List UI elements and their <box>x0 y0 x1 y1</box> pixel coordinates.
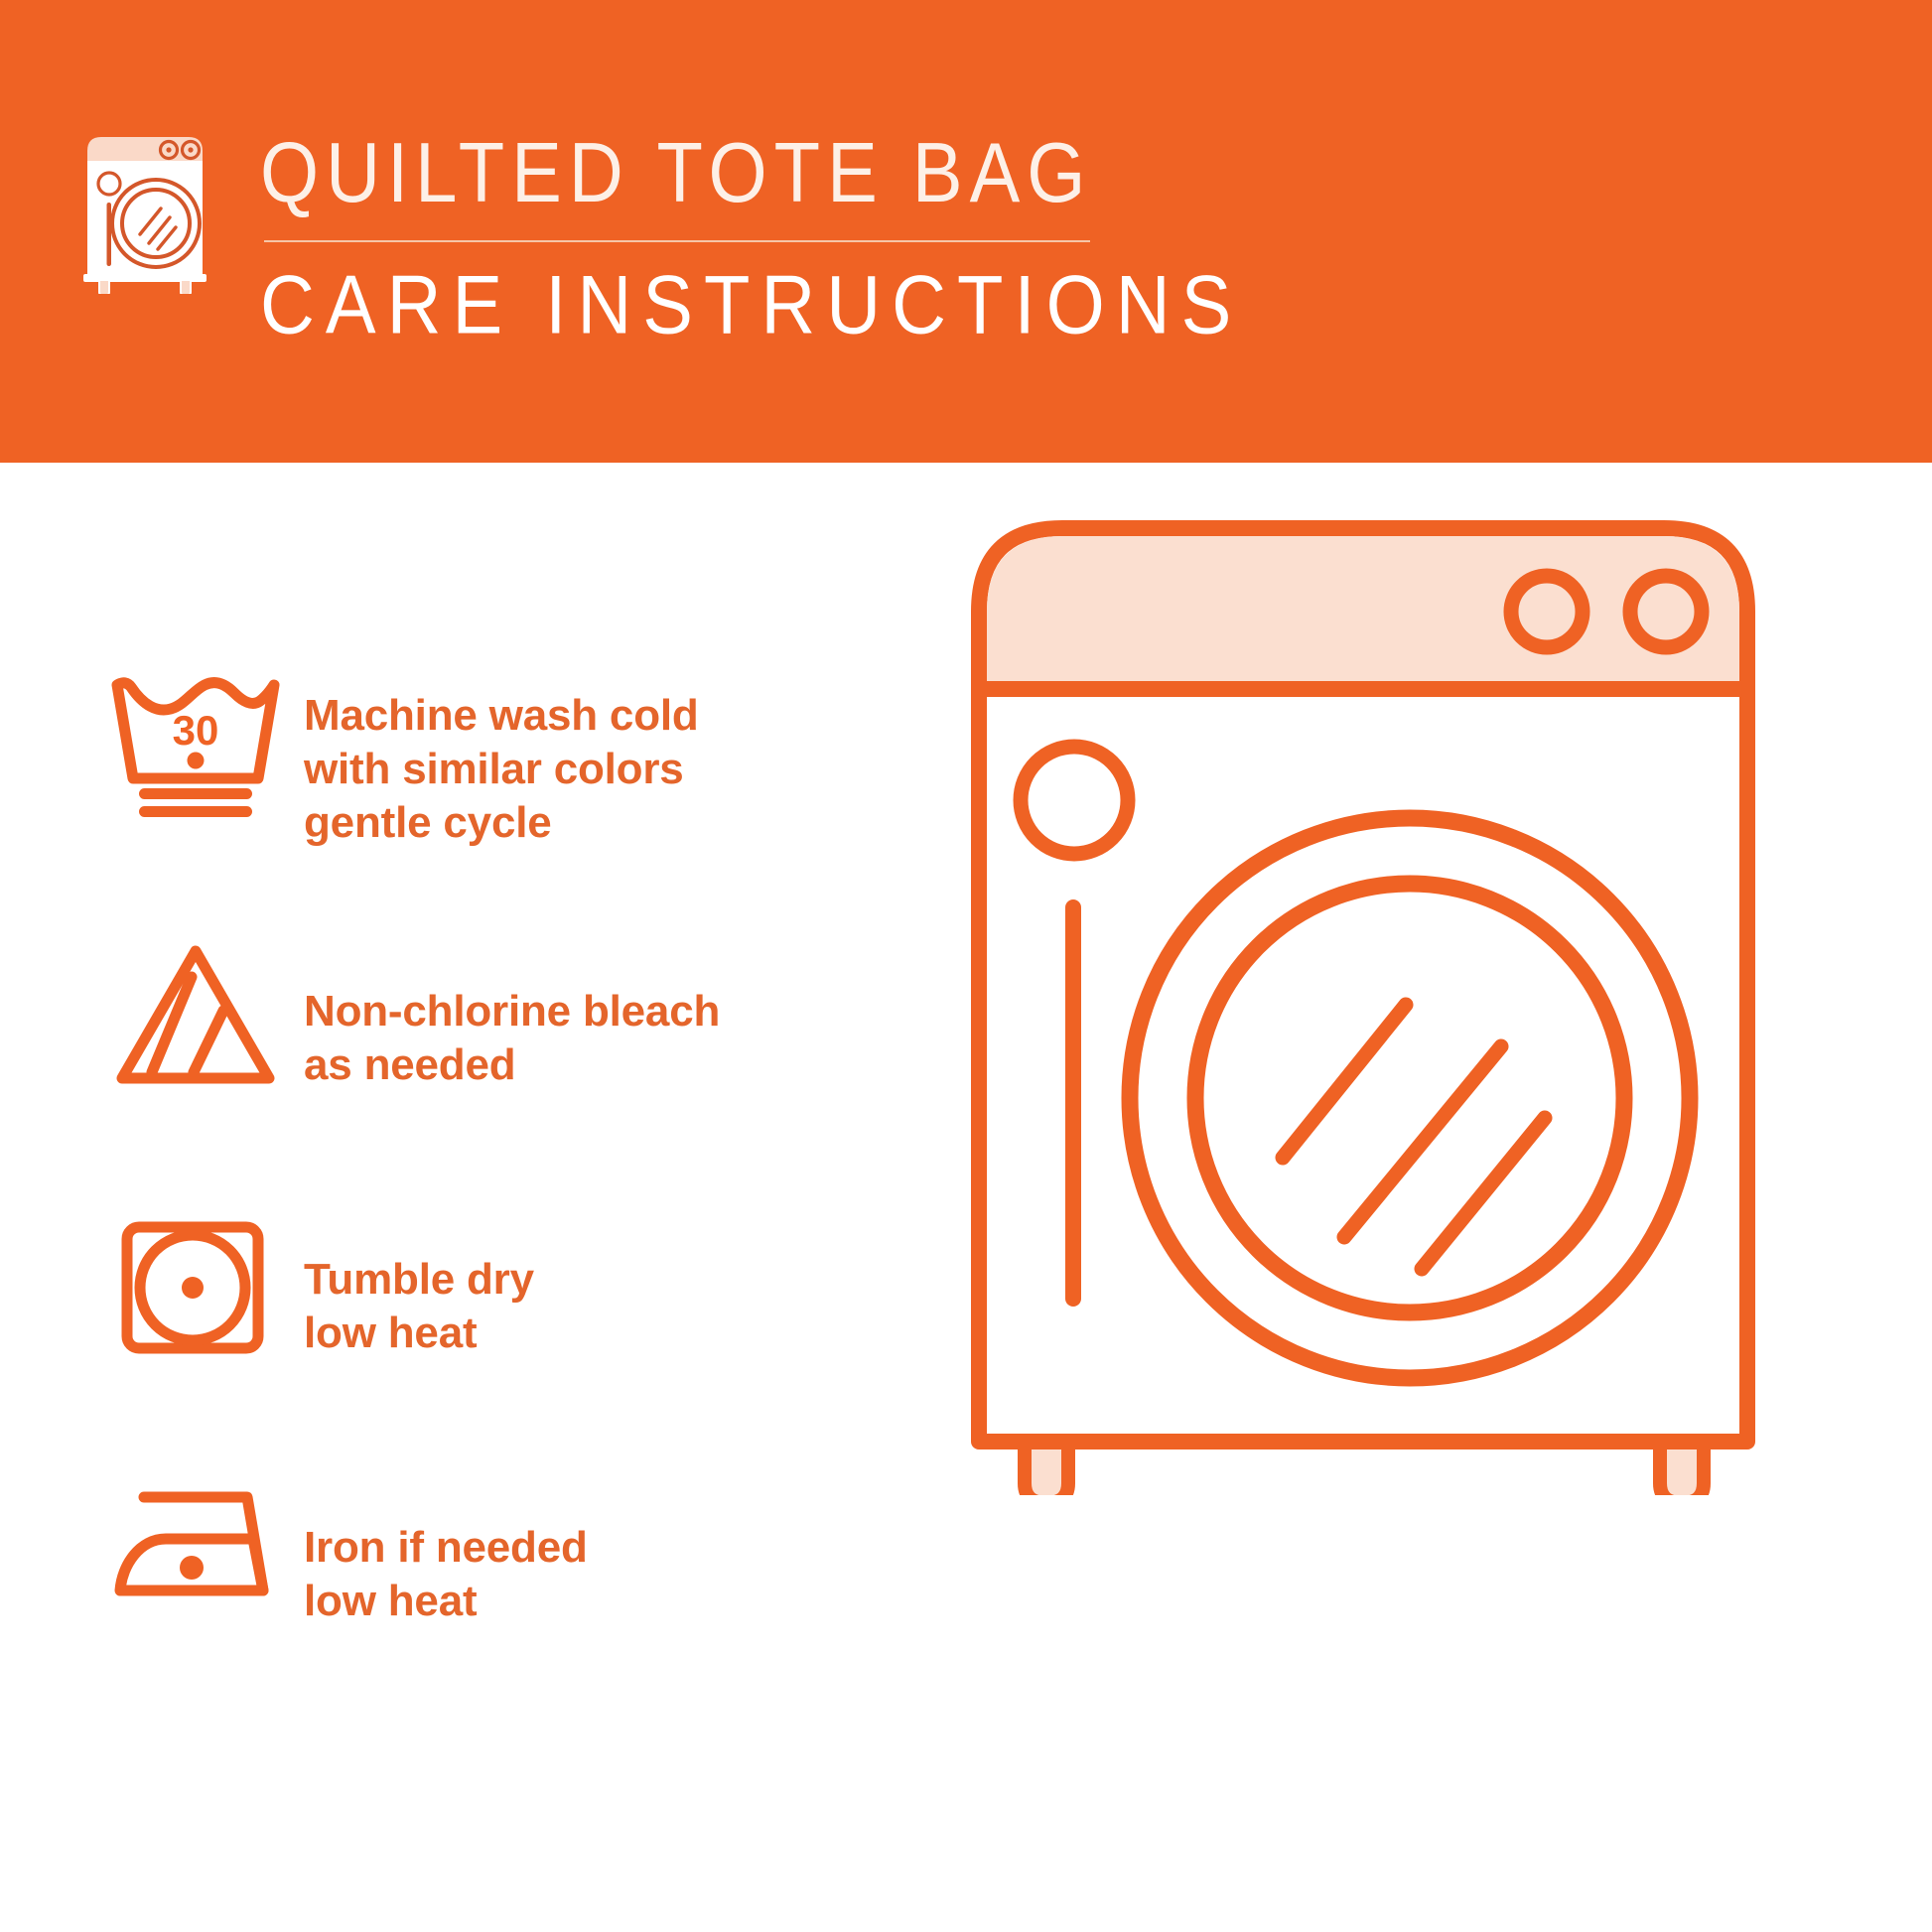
header-inner: QUILTED TOTE BAG CARE INSTRUCTIONS <box>77 127 1242 344</box>
tumble-dry-icon <box>87 1197 304 1364</box>
header-titles: QUILTED TOTE BAG CARE INSTRUCTIONS <box>260 127 1242 344</box>
washing-machine-icon <box>77 129 218 294</box>
page-subtitle: CARE INSTRUCTIONS <box>260 260 1242 351</box>
svg-text:30: 30 <box>173 707 219 754</box>
iron-icon <box>87 1465 304 1622</box>
care-text-tumble-dry: Tumble dry low heat <box>304 1197 534 1360</box>
care-row-tumble-dry: Tumble dry low heat <box>87 1197 961 1465</box>
care-text-iron: Iron if needed low heat <box>304 1465 588 1628</box>
care-instruction-list: 30 Machine wash cold with similar colors… <box>87 661 961 1733</box>
care-row-bleach: Non-chlorine bleach as needed <box>87 929 961 1197</box>
care-row-iron: Iron if needed low heat <box>87 1465 961 1733</box>
washing-machine-illustration <box>953 502 1847 1495</box>
header-banner: QUILTED TOTE BAG CARE INSTRUCTIONS <box>0 0 1932 463</box>
care-row-machine-wash: 30 Machine wash cold with similar colors… <box>87 661 961 929</box>
page-title: QUILTED TOTE BAG <box>260 127 1242 220</box>
main-content: 30 Machine wash cold with similar colors… <box>0 463 1932 1932</box>
care-text-machine-wash: Machine wash cold with similar colors ge… <box>304 661 699 850</box>
bleach-triangle-icon <box>87 929 304 1096</box>
title-divider <box>264 240 1090 242</box>
wash-tub-30-icon: 30 <box>87 661 304 828</box>
care-text-bleach: Non-chlorine bleach as needed <box>304 929 720 1092</box>
